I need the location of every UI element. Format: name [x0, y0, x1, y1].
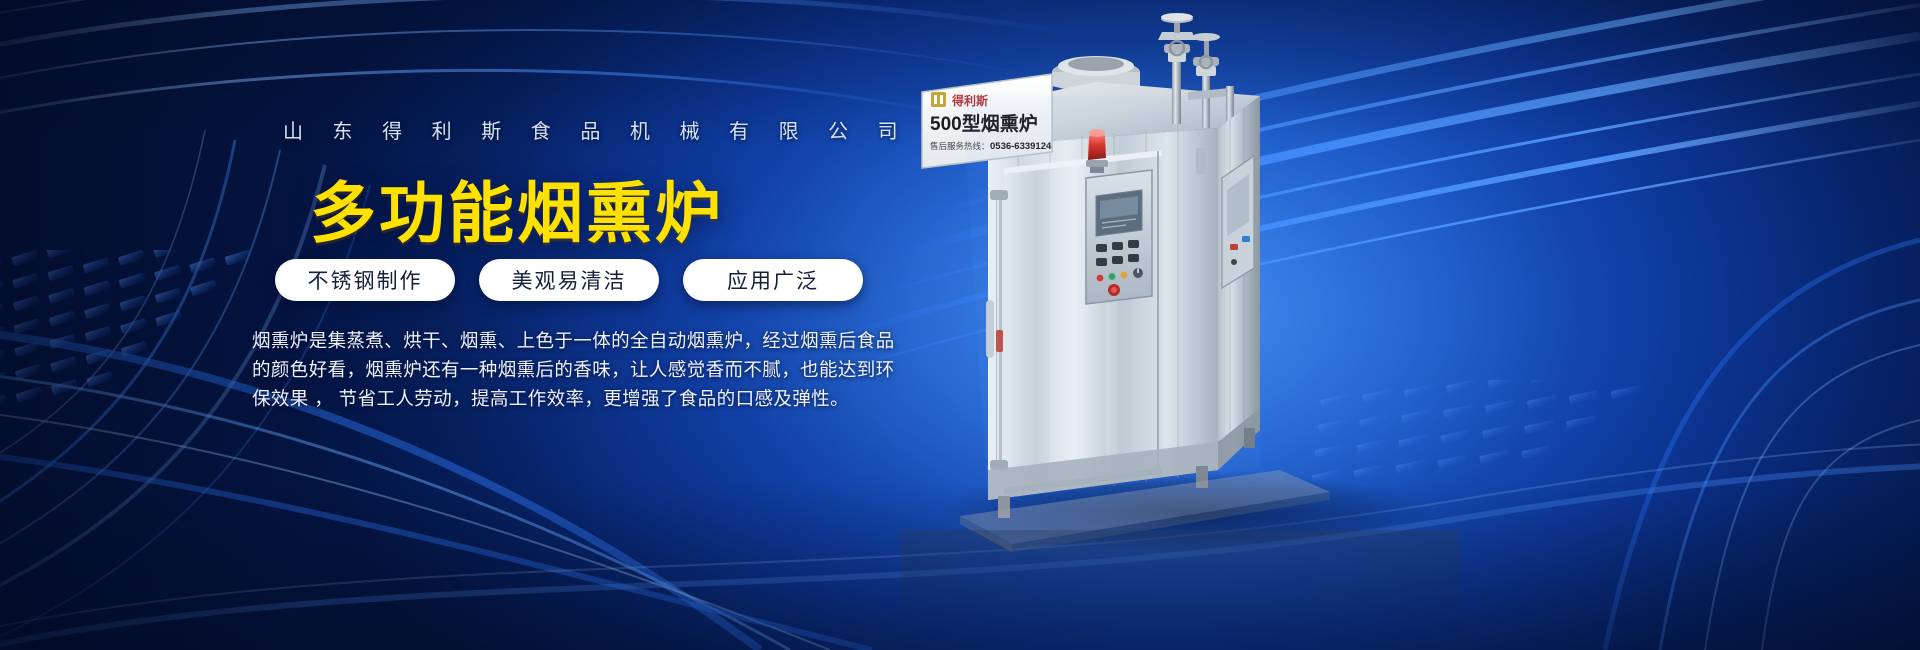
- feature-pill-label: 美观易清洁: [512, 265, 627, 295]
- feature-pill-easy-clean[interactable]: 美观易清洁: [479, 259, 659, 301]
- feature-pill-stainless[interactable]: 不锈钢制作: [275, 259, 455, 301]
- banner-text-content: 山 东 得 利 斯 食 品 机 械 有 限 公 司 多功能烟熏炉 不锈钢制作 美…: [0, 0, 860, 650]
- product-banner: 得利斯 500型烟熏炉 售后服务热线： 0536-6339124: [0, 0, 1920, 650]
- product-description: 烟熏炉是集蒸煮、烘干、烟熏、上色于一体的全自动烟熏炉，经过烟熏后食品 的颜色好看…: [252, 326, 812, 413]
- feature-pill-wide-application[interactable]: 应用广泛: [683, 259, 863, 301]
- smokehouse-oven-illustration: 得利斯 500型烟熏炉 售后服务热线： 0536-6339124: [900, 0, 1460, 650]
- page-title: 多功能烟熏炉: [310, 160, 724, 256]
- feature-pill-label: 应用广泛: [727, 265, 819, 295]
- feature-pill-label: 不锈钢制作: [308, 265, 423, 295]
- feature-pill-group: 不锈钢制作 美观易清洁 应用广泛: [275, 259, 863, 301]
- description-line: 的颜色好看，烟熏炉还有一种烟熏后的香味，让人感觉香而不腻，也能达到环: [252, 355, 812, 384]
- company-name: 山 东 得 利 斯 食 品 机 械 有 限 公 司: [283, 115, 910, 144]
- description-line: 烟熏炉是集蒸煮、烘干、烟熏、上色于一体的全自动烟熏炉，经过烟熏后食品: [252, 326, 812, 355]
- description-line: 保效果 ， 节省工人劳动，提高工作效率，更增强了食品的口感及弹性。: [252, 384, 812, 413]
